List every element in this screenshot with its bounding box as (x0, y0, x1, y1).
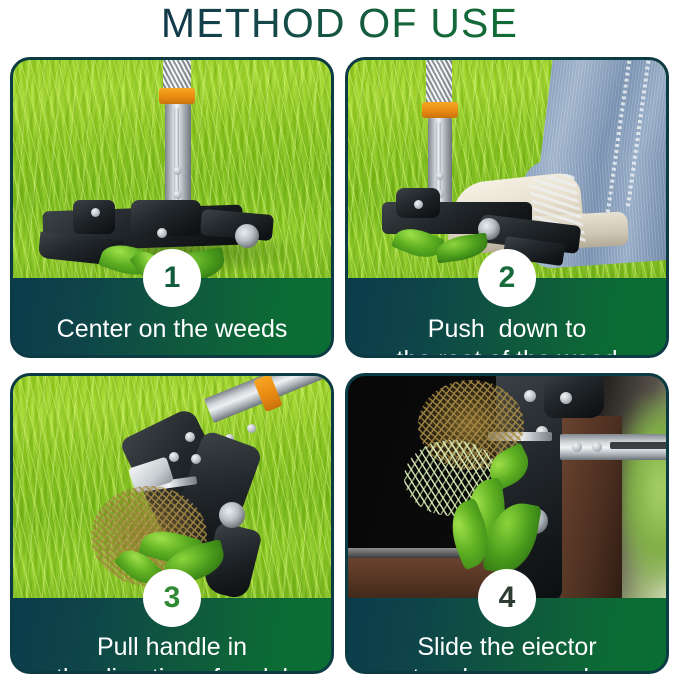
step-card-3[interactable]: Pull handle in the direction of pedal 3 (10, 373, 334, 674)
page-title: METHOD OF USE (161, 3, 518, 44)
tool-shaft-slot-icon (610, 442, 666, 449)
step-4-number-badge: 4 (478, 569, 536, 627)
tool-rivet-icon (524, 390, 536, 402)
step-4-caption-line-1: Slide the eiector (417, 632, 596, 663)
tool-rivet-icon (173, 166, 182, 175)
tool-rivet-icon (560, 392, 572, 404)
step-card-1[interactable]: Center on the weeds 1 (10, 57, 334, 358)
step-3-number-badge: 3 (143, 569, 201, 627)
step-3-caption-line-1: Pull handle in (97, 632, 247, 663)
tool-rivet-icon (157, 228, 167, 238)
tool-pivot-knob-icon (219, 502, 245, 528)
step-2-number-badge: 2 (478, 249, 536, 307)
tool-shaft-slot-icon (436, 122, 441, 194)
tool-head-hinge-icon (73, 200, 115, 234)
tool-shaft-slot-icon (174, 108, 179, 202)
step-4-photo (348, 376, 666, 598)
step-1-number-badge: 1 (143, 249, 201, 307)
step-4-caption-line-2: to release weeds (412, 663, 601, 674)
step-2-caption-line-1: Push down to (428, 314, 586, 345)
tool-upper-shaft-icon (426, 60, 452, 106)
blurred-foliage-icon (616, 396, 666, 586)
steps-grid: Center on the weeds 1 (10, 57, 669, 674)
tool-hinge-icon (544, 376, 604, 418)
tool-rivet-icon (169, 452, 179, 462)
step-2-caption-line-2: the root of the weed (397, 345, 618, 358)
tool-rivet-icon (185, 432, 195, 442)
tool-rivet-icon (191, 454, 201, 464)
tool-orange-collar-icon (422, 102, 458, 118)
step-2-number: 2 (499, 263, 516, 293)
tool-rivet-icon (91, 208, 100, 217)
step-3-number: 3 (164, 583, 181, 613)
page-header: METHOD OF USE (0, 0, 679, 47)
step-3-photo (13, 376, 331, 598)
tool-orange-collar-icon (159, 88, 195, 104)
step-2-photo (348, 60, 666, 278)
tool-rivet-icon (572, 442, 582, 452)
tool-rivet-icon (173, 190, 182, 199)
tool-upper-shaft-icon (163, 60, 191, 90)
step-3-caption-line-2: the direction of pedal (56, 663, 288, 674)
tool-pivot-knob-icon (235, 224, 259, 248)
tool-rivet-icon (592, 442, 602, 452)
tool-rivet-icon (247, 424, 256, 433)
tool-rivet-icon (436, 172, 444, 180)
step-1-photo (13, 60, 331, 278)
step-4-number: 4 (499, 583, 516, 613)
step-1-number: 1 (164, 263, 181, 293)
step-1-caption-line-1: Center on the weeds (57, 314, 288, 345)
step-card-4[interactable]: Slide the eiector to release weeds 4 (345, 373, 669, 674)
step-card-2[interactable]: Push down to the root of the weed 2 (345, 57, 669, 358)
tool-rivet-icon (414, 200, 423, 209)
